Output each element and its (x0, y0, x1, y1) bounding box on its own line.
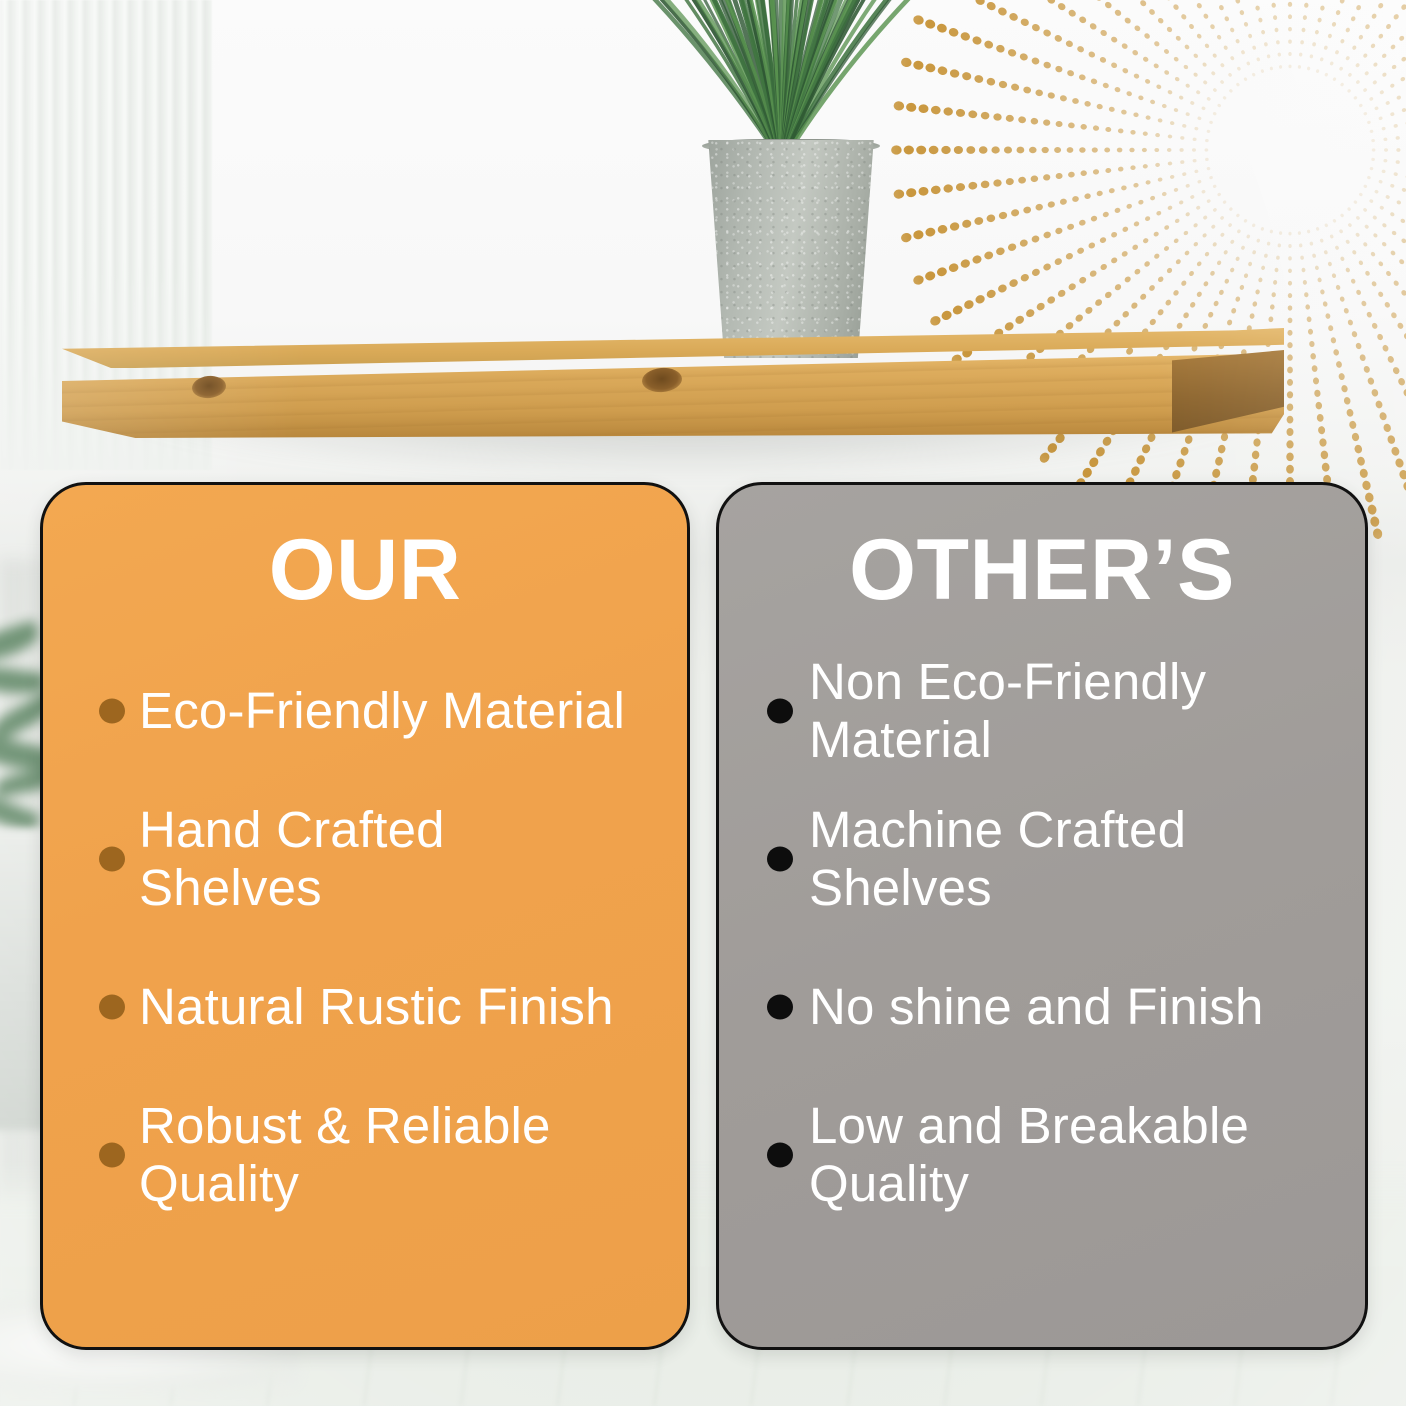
feature-item: Eco-Friendly Material (43, 653, 687, 769)
product-comparison-graphic: OUR Eco-Friendly Material Hand Crafted S… (0, 0, 1406, 1406)
comparison-card-others: OTHER’S Non Eco-Friendly Material Machin… (716, 482, 1368, 1350)
card-title-others: OTHER’S (719, 527, 1365, 613)
card-title-our: OUR (43, 527, 687, 613)
feature-item: Natural Rustic Finish (43, 949, 687, 1065)
feature-label: Non Eco-Friendly Material (809, 653, 1319, 768)
feature-label: Robust & Reliable Quality (139, 1097, 639, 1212)
bullet-dot-icon (99, 1143, 125, 1168)
bullet-dot-icon (767, 995, 793, 1020)
feature-item: Machine Crafted Shelves (719, 801, 1365, 917)
bullet-dot-icon (99, 699, 125, 724)
feature-item: Hand Crafted Shelves (43, 801, 687, 917)
bullet-dot-icon (767, 847, 793, 872)
bullet-dot-icon (99, 847, 125, 872)
feature-list-others: Non Eco-Friendly Material Machine Crafte… (719, 653, 1365, 1213)
comparison-card-our: OUR Eco-Friendly Material Hand Crafted S… (40, 482, 690, 1350)
feature-label: Hand Crafted Shelves (139, 801, 639, 916)
bullet-dot-icon (767, 699, 793, 724)
bullet-dot-icon (99, 995, 125, 1020)
feature-item: Non Eco-Friendly Material (719, 653, 1365, 769)
feature-item: No shine and Finish (719, 949, 1365, 1065)
feature-item: Low and Breakable Quality (719, 1097, 1365, 1213)
feature-label: Low and Breakable Quality (809, 1097, 1319, 1212)
feature-label: Eco-Friendly Material (139, 682, 625, 740)
feature-label: No shine and Finish (809, 978, 1264, 1036)
feature-item: Robust & Reliable Quality (43, 1097, 687, 1213)
bullet-dot-icon (767, 1143, 793, 1168)
feature-label: Machine Crafted Shelves (809, 801, 1319, 916)
feature-label: Natural Rustic Finish (139, 978, 614, 1036)
comparison-cards: OUR Eco-Friendly Material Hand Crafted S… (0, 0, 1406, 1406)
feature-list-our: Eco-Friendly Material Hand Crafted Shelv… (43, 653, 687, 1213)
